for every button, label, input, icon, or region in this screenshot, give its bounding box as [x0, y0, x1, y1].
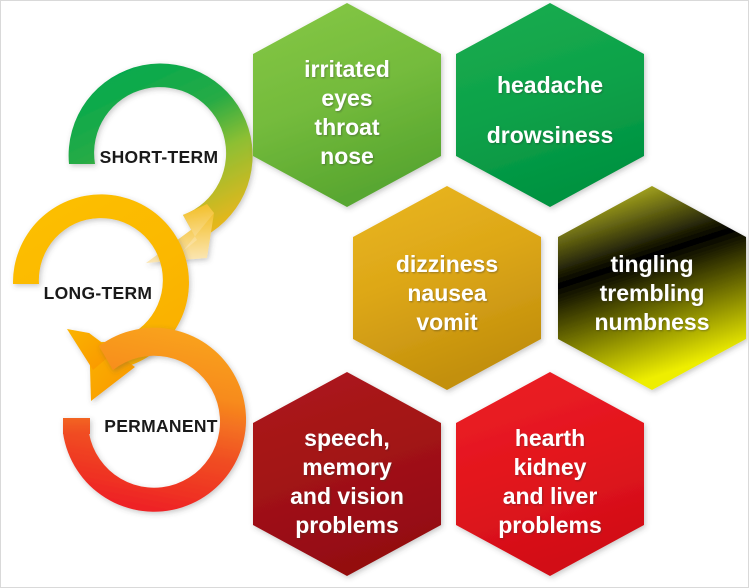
- stage-label-short-term: SHORT-TERM: [100, 147, 219, 167]
- hexagon-line: vomit: [416, 309, 478, 335]
- hexagon-tingling[interactable]: tingling trembling numbness: [558, 186, 746, 390]
- hexagon-speech[interactable]: speech, memory and vision problems: [253, 372, 441, 576]
- hexagon-line: and vision: [290, 483, 404, 509]
- hexagon-line: kidney: [514, 454, 587, 480]
- hexagon-irritated[interactable]: irritated eyes throat nose: [253, 3, 441, 207]
- hexagon-line: speech,: [304, 425, 390, 451]
- hexagon-line: memory: [302, 454, 392, 480]
- infographic-canvas: SHORT-TERM LONG-TERM PERMANENT irritated…: [1, 1, 749, 588]
- permanent-arc-tail: [63, 418, 90, 434]
- hexagon-line: throat: [314, 114, 380, 140]
- hexagon-hearth[interactable]: hearth kidney and liver problems: [456, 372, 644, 576]
- hexagon-dizziness[interactable]: dizziness nausea vomit: [353, 186, 541, 390]
- hexagon-line: headache: [497, 72, 603, 98]
- hexagon-line: trembling: [600, 280, 705, 306]
- hexagon-line: numbness: [594, 309, 709, 335]
- hexagon-line: problems: [295, 512, 399, 538]
- hexagon-line: nose: [320, 143, 374, 169]
- hexagon-headache[interactable]: headache drowsiness: [456, 3, 644, 207]
- hexagon-line: irritated: [304, 56, 390, 82]
- hexagon-line: eyes: [321, 85, 372, 111]
- hexagon-line: problems: [498, 512, 602, 538]
- hexagon-line: hearth: [515, 425, 585, 451]
- hexagon-line: drowsiness: [487, 122, 614, 148]
- hexagon-line: and liver: [503, 483, 598, 509]
- stage-label-long-term: LONG-TERM: [44, 283, 153, 303]
- hexagon-line: tingling: [610, 251, 693, 277]
- hexagon-line: nausea: [407, 280, 486, 306]
- hexagon-line: dizziness: [396, 251, 498, 277]
- symptom-timeline-infographic: SHORT-TERM LONG-TERM PERMANENT irritated…: [0, 0, 749, 588]
- hexagon-shape: [456, 3, 644, 207]
- stage-label-permanent: PERMANENT: [104, 416, 218, 436]
